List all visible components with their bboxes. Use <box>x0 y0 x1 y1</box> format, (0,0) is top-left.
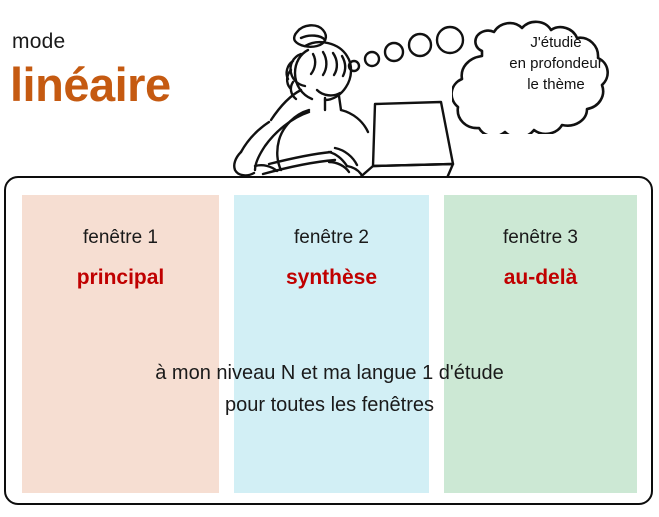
panel-1-window-label: fenêtre 1 <box>22 226 219 249</box>
panel-3-mode-label: au-delà <box>444 265 637 290</box>
panel-fenetre-1[interactable]: fenêtre 1 principal <box>22 195 219 493</box>
header-area: mode linéaire <box>0 0 659 177</box>
panel-1-mode-label: principal <box>22 265 219 290</box>
panel-fenetre-2[interactable]: fenêtre 2 synthèse <box>234 195 429 493</box>
window-panels: fenêtre 1 principal fenêtre 2 synthèse f… <box>22 195 637 493</box>
thought-cloud-line-3: le thème <box>472 74 640 95</box>
thought-cloud-line-1: J'étudie <box>472 32 640 53</box>
panel-2-window-label: fenêtre 2 <box>234 226 429 249</box>
thought-trail-circles <box>344 20 469 80</box>
thought-cloud-line-2: en profondeur <box>472 53 640 74</box>
thought-cloud-text: J'étudie en profondeur le thème <box>472 32 640 95</box>
page-title: linéaire <box>10 57 171 112</box>
panel-2-mode-label: synthèse <box>234 265 429 290</box>
panel-3-window-label: fenêtre 3 <box>444 226 637 249</box>
panel-fenetre-3[interactable]: fenêtre 3 au-delà <box>444 195 637 493</box>
mode-label: mode <box>12 30 65 54</box>
